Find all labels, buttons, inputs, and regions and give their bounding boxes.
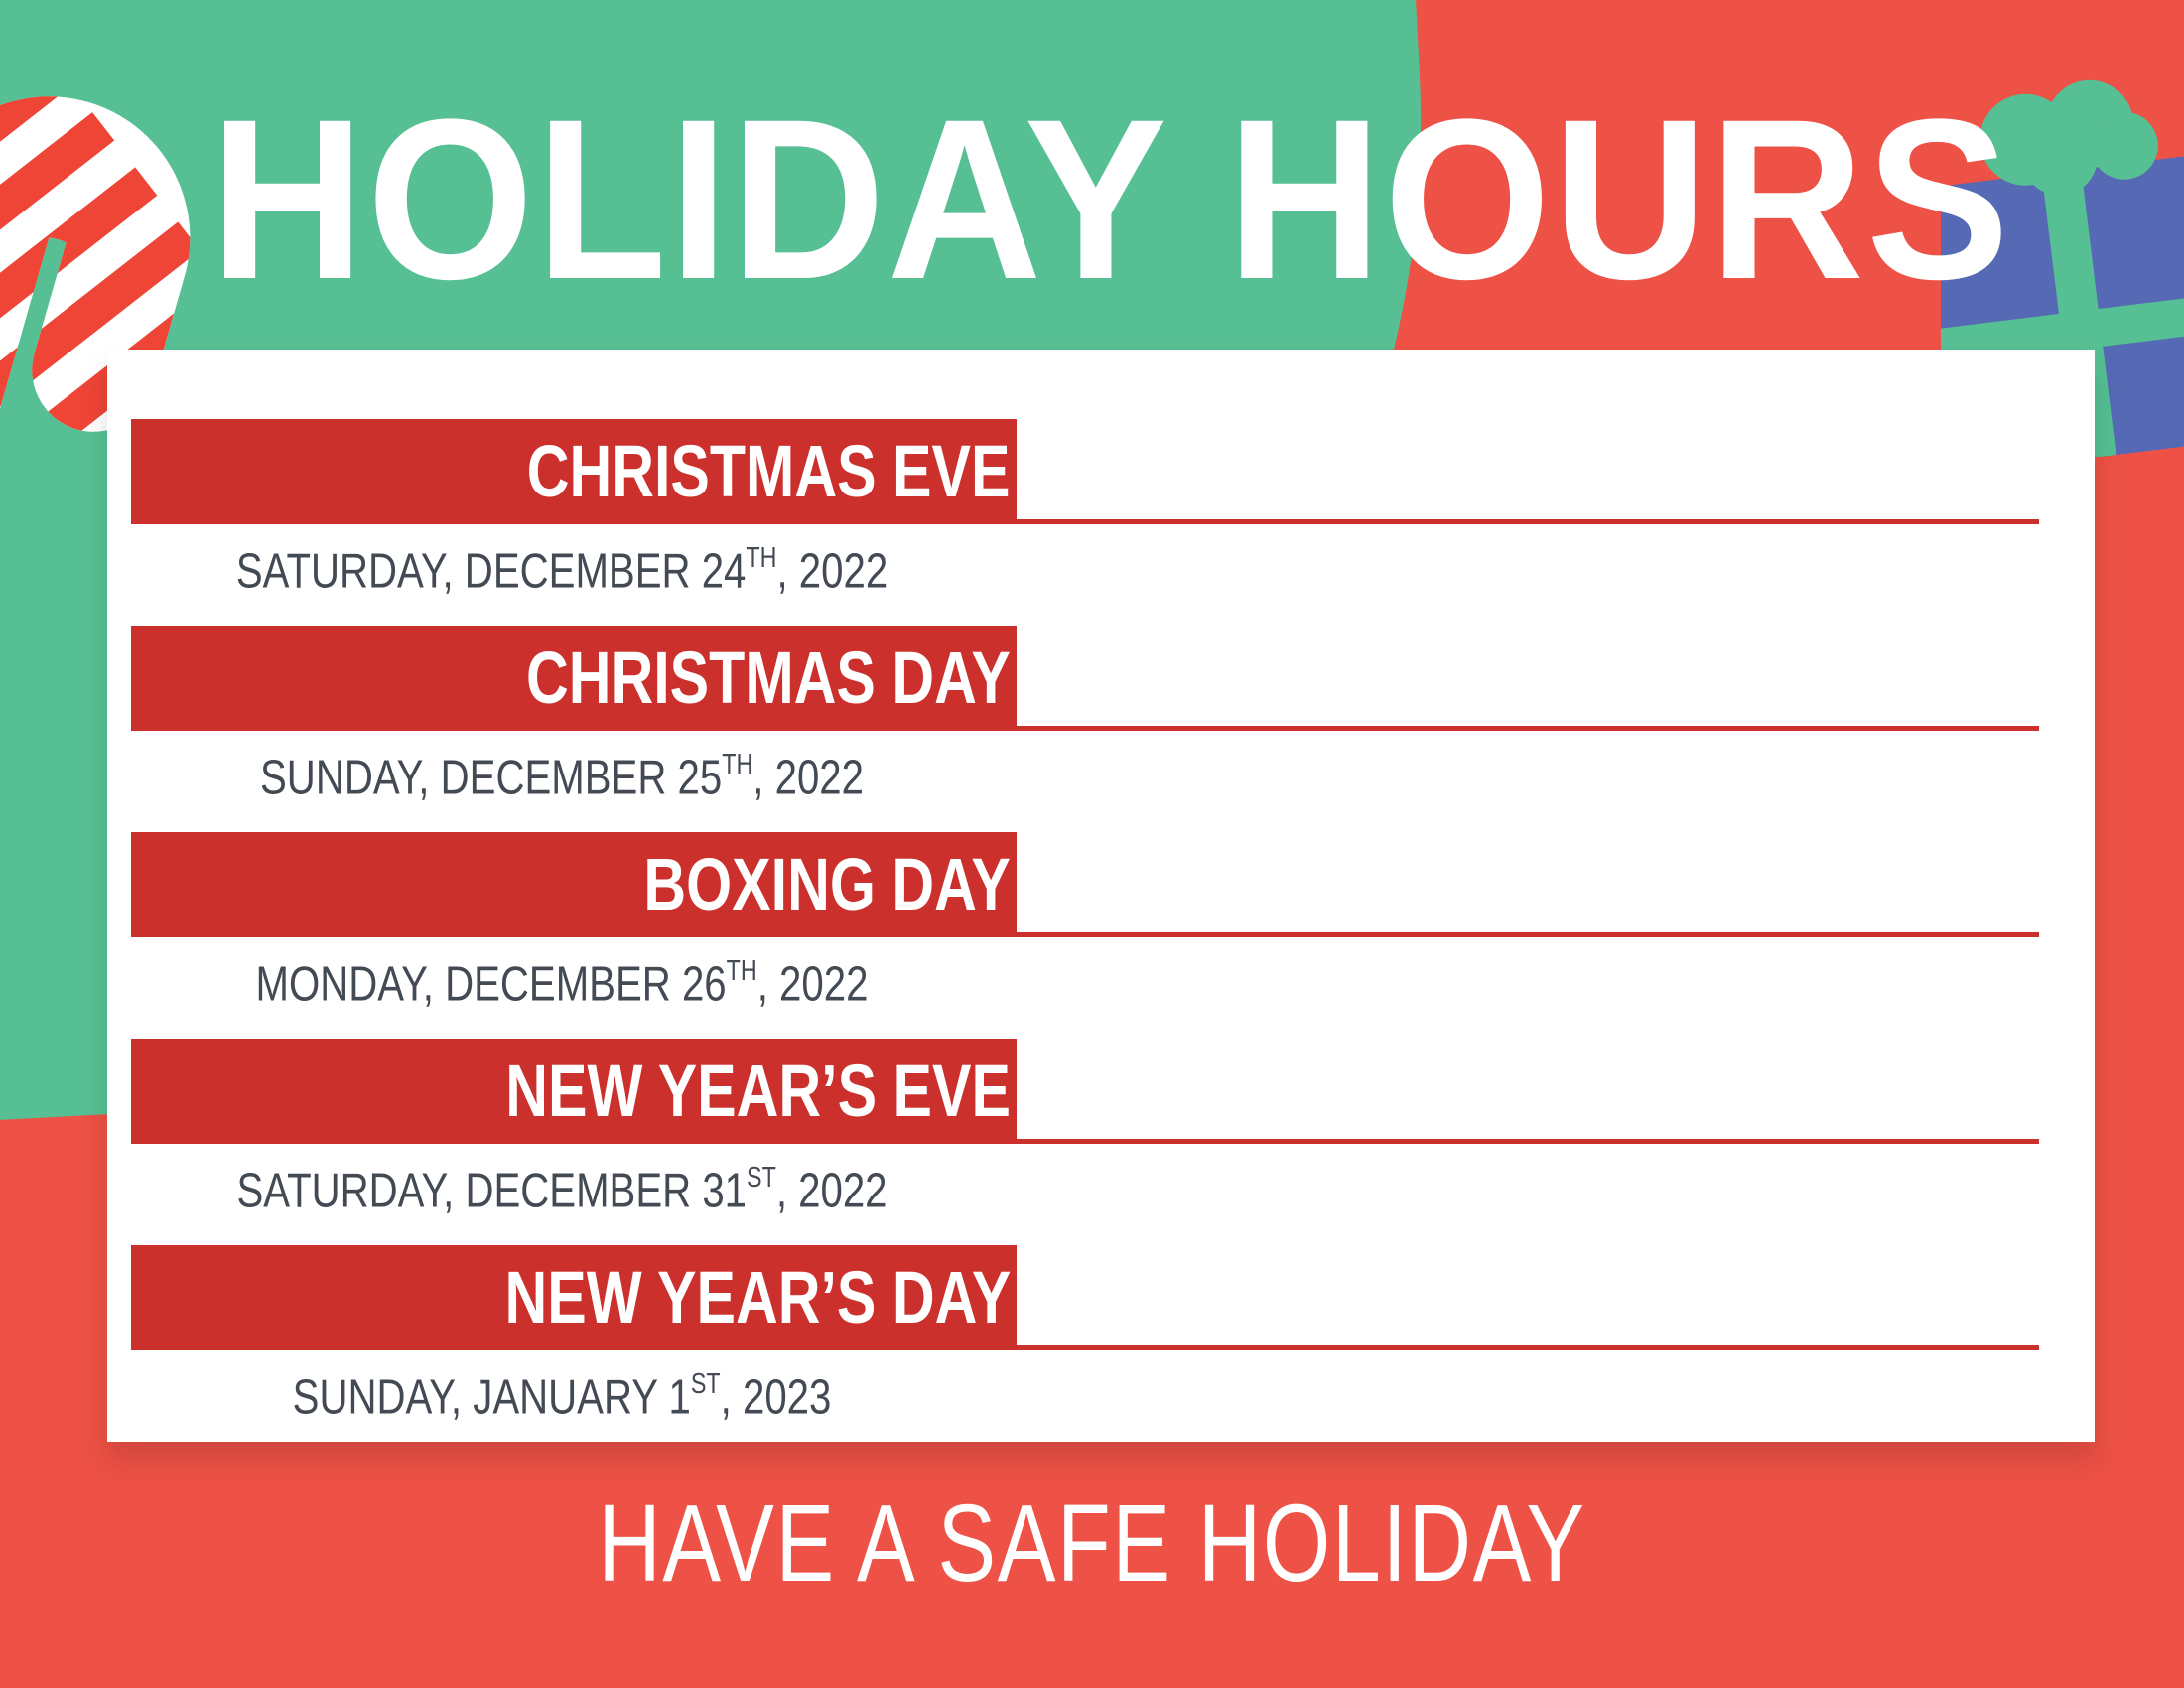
date-weekday: SATURDAY, DECEMBER	[236, 544, 702, 598]
holiday-name-band: NEW YEAR’S DAY	[131, 1245, 1017, 1350]
date-ordinal: TH	[746, 542, 776, 574]
band-wrapper: BOXING DAY	[107, 832, 2095, 937]
hours-rule-line	[1017, 1345, 2039, 1350]
hours-rule-line	[1017, 1139, 2039, 1144]
holiday-date: SATURDAY, DECEMBER 24TH, 2022	[189, 530, 934, 599]
hours-rule-line	[1017, 726, 2039, 731]
holiday-name-label: CHRISTMAS DAY	[526, 641, 1011, 715]
holiday-name-label: BOXING DAY	[643, 848, 1011, 921]
hours-row: BOXING DAY MONDAY, DECEMBER 26TH, 2022	[107, 832, 2095, 1039]
date-year: , 2023	[721, 1370, 832, 1424]
hours-list: CHRISTMAS EVE SATURDAY, DECEMBER 24TH, 2…	[107, 350, 2095, 1452]
date-year: , 2022	[757, 957, 869, 1011]
hours-row: NEW YEAR’S DAY SUNDAY, JANUARY 1ST, 2023	[107, 1245, 2095, 1452]
date-day: 25	[678, 751, 723, 804]
date-day: 26	[682, 957, 727, 1011]
date-ordinal: ST	[691, 1368, 721, 1400]
holiday-name-label: CHRISTMAS EVE	[527, 435, 1011, 508]
hours-row: CHRISTMAS EVE SATURDAY, DECEMBER 24TH, 2…	[107, 419, 2095, 626]
date-day: 1	[669, 1370, 691, 1424]
holiday-date: SATURDAY, DECEMBER 31ST, 2022	[189, 1150, 934, 1218]
holiday-name-band: CHRISTMAS DAY	[131, 626, 1017, 731]
holiday-name-band: BOXING DAY	[131, 832, 1017, 937]
date-year: , 2022	[752, 751, 864, 804]
band-wrapper: CHRISTMAS DAY	[107, 626, 2095, 731]
poster-canvas: HOLIDAY HOURS CHRISTMAS EVE SATURDAY, DE…	[0, 0, 2184, 1688]
hours-rule-line	[1017, 519, 2039, 524]
date-year: , 2022	[776, 544, 887, 598]
holiday-name-label: NEW YEAR’S DAY	[504, 1261, 1011, 1335]
date-weekday: SUNDAY, DECEMBER	[260, 751, 678, 804]
page-title: HOLIDAY HOURS	[66, 85, 2118, 314]
hours-rule-line	[1017, 932, 2039, 937]
date-weekday: MONDAY, DECEMBER	[256, 957, 682, 1011]
date-weekday: SATURDAY, DECEMBER	[236, 1164, 702, 1217]
hours-card: CHRISTMAS EVE SATURDAY, DECEMBER 24TH, 2…	[107, 350, 2095, 1442]
holiday-date: SUNDAY, JANUARY 1ST, 2023	[189, 1356, 934, 1425]
date-year: , 2022	[776, 1164, 887, 1217]
holiday-name-label: NEW YEAR’S EVE	[505, 1055, 1011, 1128]
hours-row: NEW YEAR’S EVE SATURDAY, DECEMBER 31ST, …	[107, 1039, 2095, 1245]
date-day: 24	[702, 544, 747, 598]
holiday-name-band: CHRISTMAS EVE	[131, 419, 1017, 524]
date-ordinal: TH	[722, 749, 752, 780]
date-day: 31	[702, 1164, 747, 1217]
band-wrapper: NEW YEAR’S EVE	[107, 1039, 2095, 1144]
band-wrapper: NEW YEAR’S DAY	[107, 1245, 2095, 1350]
holiday-date: MONDAY, DECEMBER 26TH, 2022	[189, 943, 934, 1012]
band-wrapper: CHRISTMAS EVE	[107, 419, 2095, 524]
date-weekday: SUNDAY, JANUARY	[293, 1370, 669, 1424]
holiday-name-band: NEW YEAR’S EVE	[131, 1039, 1017, 1144]
hours-row: CHRISTMAS DAY SUNDAY, DECEMBER 25TH, 202…	[107, 626, 2095, 832]
footer-message: HAVE A SAFE HOLIDAY	[218, 1489, 1966, 1599]
date-ordinal: ST	[747, 1162, 776, 1194]
holiday-date: SUNDAY, DECEMBER 25TH, 2022	[189, 737, 934, 805]
date-ordinal: TH	[727, 955, 757, 987]
